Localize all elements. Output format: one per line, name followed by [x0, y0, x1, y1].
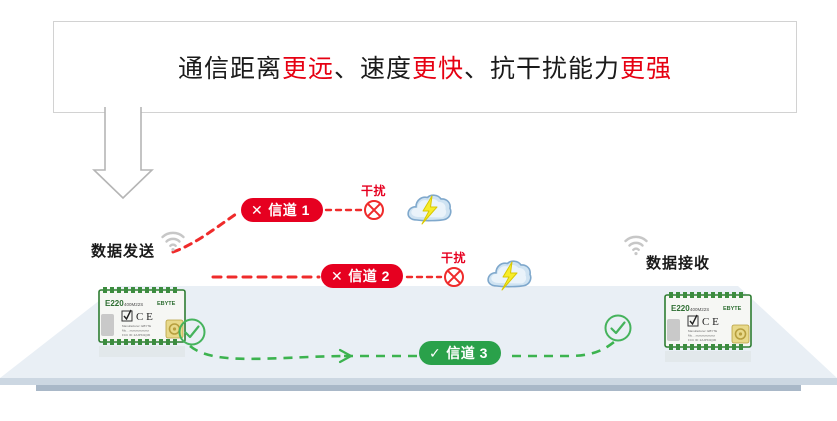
module-reflection: [99, 346, 185, 357]
interference-label-2: 干扰: [441, 249, 466, 266]
storm-cloud-icon: [485, 256, 533, 294]
channel-1-badge[interactable]: ✕ 信道 1: [241, 198, 323, 222]
infographic-canvas: 通信距离更远、速度更快、抗干扰能力更强 数据发送: [0, 0, 837, 421]
rf-module-receiver: E220 400M22S EBYTE C E Manufacturer: EBY…: [661, 289, 757, 363]
channel-1-label: 信道 1: [268, 200, 310, 220]
transmitter-label: 数据发送: [91, 240, 155, 261]
module-fineprint-2: Mo... xxxxxxxxxxxxx: [688, 334, 716, 338]
receiver-label: 数据接收: [646, 252, 710, 273]
module-fineprint-1: Manufacturer: EBYTE: [122, 324, 151, 328]
cross-icon: ✕: [331, 269, 343, 283]
module-model: E220: [671, 304, 690, 313]
module-body: E220 400M22S EBYTE C E Manufacturer: EBY…: [99, 287, 185, 345]
cross-icon: ✕: [251, 203, 263, 217]
module-fineprint-2: Mo... xxxxxxxxxxxxx: [122, 329, 150, 333]
channel-3-line-right: [512, 342, 614, 356]
circle-x-icon: [443, 266, 465, 288]
module-freq: 400M22S: [690, 307, 709, 312]
module-brand: EBYTE: [723, 306, 742, 312]
channel-3-label: 信道 3: [446, 343, 488, 363]
module-brand: EBYTE: [157, 301, 176, 307]
wifi-signal-icon: [623, 234, 649, 256]
module-reflection: [665, 351, 751, 362]
channel-2-label: 信道 2: [348, 266, 390, 286]
module-fineprint-3: FCC ID: 2AJPK4Q30: [688, 338, 717, 342]
module-fineprint-1: Manufacturer: EBYTE: [688, 329, 717, 333]
module-freq: 400M22S: [124, 302, 143, 307]
check-icon: ✓: [429, 346, 441, 360]
wifi-signal-icon: [160, 230, 186, 252]
module-fineprint-3: FCC ID: 2AJPK4Q30: [122, 333, 151, 337]
storm-cloud-icon: [405, 190, 453, 228]
circle-x-icon: [363, 199, 385, 221]
module-body: E220 400M22S EBYTE C E Manufacturer: EBY…: [665, 292, 751, 350]
channel-2-badge[interactable]: ✕ 信道 2: [321, 264, 403, 288]
module-model: E220: [105, 299, 124, 308]
module-ce-mark: C E: [136, 311, 153, 323]
channel-3-badge[interactable]: ✓ 信道 3: [419, 341, 501, 365]
channel-3-line-left: [190, 346, 344, 359]
interference-label-1: 干扰: [361, 182, 386, 199]
check-circle-icon: [177, 317, 207, 347]
check-circle-icon: [603, 313, 633, 343]
module-ce-mark: C E: [702, 316, 719, 328]
